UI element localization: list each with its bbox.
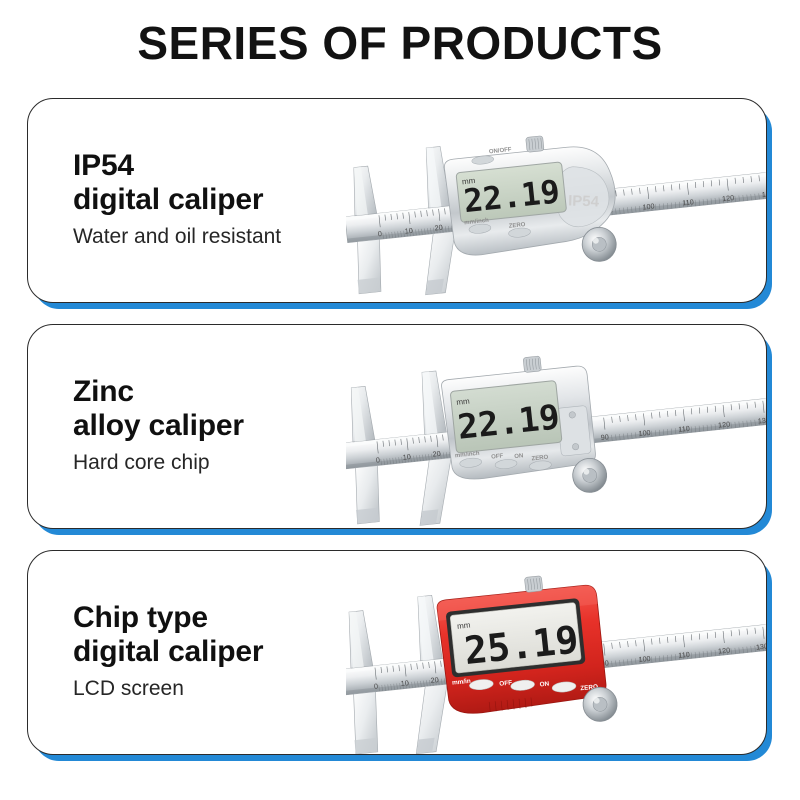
- svg-text:130: 130: [761, 189, 766, 199]
- card-headline: IP54 digital caliper: [73, 149, 403, 217]
- display-unit-label: mm: [456, 397, 471, 407]
- svg-text:20: 20: [430, 675, 439, 685]
- card-subline: Hard core chip: [73, 450, 403, 475]
- product-card-zinc-alloy-caliper[interactable]: Zinc alloy caliper Hard core chip: [27, 324, 767, 529]
- body-emboss-ip54: IP54: [568, 192, 600, 210]
- card-headline: Chip type digital caliper: [73, 601, 403, 669]
- svg-text:10: 10: [404, 226, 413, 236]
- svg-text:20: 20: [434, 223, 443, 233]
- svg-text:OFF: OFF: [491, 453, 504, 460]
- card-text-block: Chip type digital caliper LCD screen: [73, 601, 403, 702]
- card-text-block: Zinc alloy caliper Hard core chip: [73, 375, 403, 476]
- headline-line-2: digital caliper: [73, 183, 403, 217]
- headline-line-2: digital caliper: [73, 635, 403, 669]
- card-subline: Water and oil resistant: [73, 224, 403, 249]
- chip-type-caliper-illustration: 0 10 20: [346, 553, 766, 755]
- product-image-chip-type-digital-caliper: 0 10 20: [346, 551, 766, 755]
- digital-caliper-illustration: 0 10 20: [346, 101, 766, 303]
- page-title: SERIES OF PRODUCTS: [0, 16, 800, 70]
- headline-line-1: Zinc: [73, 375, 134, 408]
- button-label-off: OFF: [499, 679, 513, 687]
- headline-line-1: IP54: [73, 149, 134, 182]
- button-label-on: ON: [539, 681, 550, 689]
- product-card-ip54-digital-caliper[interactable]: IP54 digital caliper Water and oil resis…: [27, 98, 767, 303]
- product-image-ip54-digital-caliper: 0 10 20: [346, 99, 766, 303]
- product-series-page: SERIES OF PRODUCTS IP54 digital caliper …: [0, 0, 800, 800]
- headline-line-2: alloy caliper: [73, 409, 403, 443]
- zinc-alloy-caliper-illustration: 0 10 20: [346, 327, 766, 529]
- svg-text:20: 20: [432, 449, 441, 459]
- card-text-block: IP54 digital caliper Water and oil resis…: [73, 149, 403, 250]
- svg-text:130: 130: [755, 641, 766, 651]
- headline-line-1: Chip type: [73, 601, 208, 634]
- svg-text:ON: ON: [514, 453, 524, 460]
- card-subline: LCD screen: [73, 676, 403, 701]
- card-headline: Zinc alloy caliper: [73, 375, 403, 443]
- product-image-zinc-alloy-caliper: 0 10 20: [346, 325, 766, 529]
- svg-text:10: 10: [402, 452, 411, 462]
- product-card-chip-type-digital-caliper[interactable]: Chip type digital caliper LCD screen: [27, 550, 767, 755]
